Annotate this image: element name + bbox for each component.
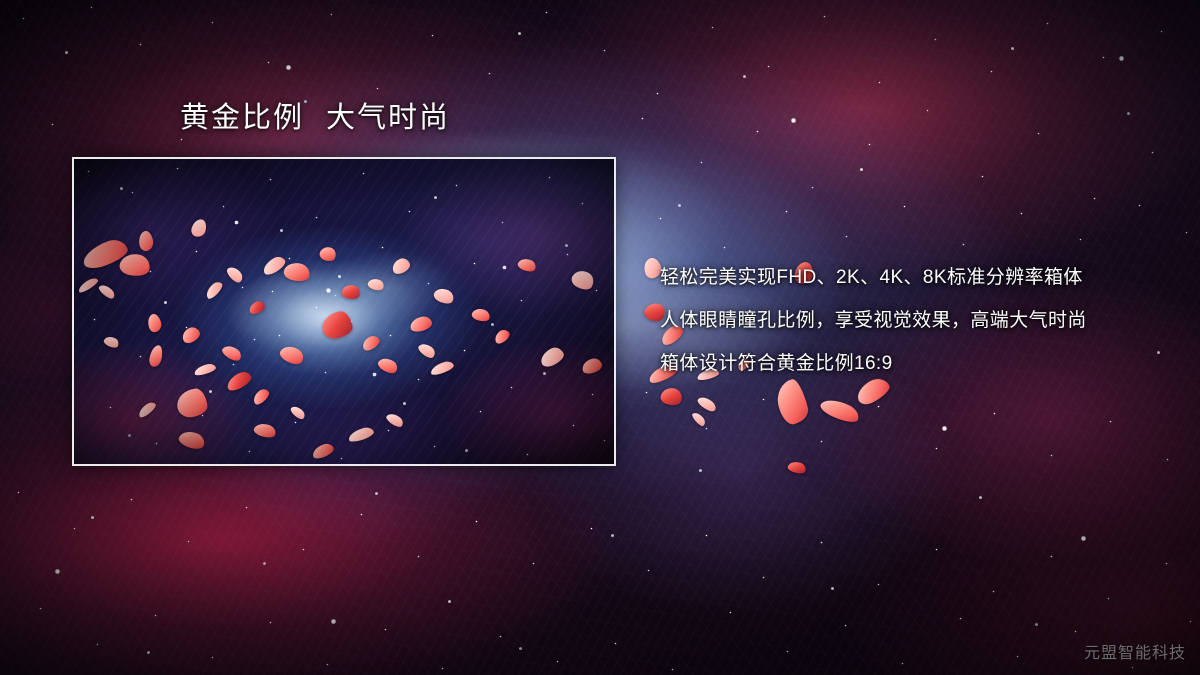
- image-panel-content: [74, 159, 614, 464]
- slide-title: 黄金比例大气时尚: [180, 101, 450, 136]
- image-panel: [72, 157, 616, 466]
- petal: [696, 394, 718, 414]
- petal: [787, 459, 808, 475]
- star-dots-medium: [0, 0, 1, 1]
- watermark: 元盟智能科技: [1084, 639, 1186, 663]
- body-line-1: 轻松完美实现FHD、2K、4K、8K标准分辨率箱体: [660, 256, 1087, 299]
- panel-vignette: [74, 159, 614, 464]
- star-dots-small: [0, 0, 1, 1]
- petal: [691, 410, 707, 428]
- body-line-2: 人体眼睛瞳孔比例，享受视觉效果，高端大气时尚: [660, 299, 1087, 342]
- title-part-2: 大气时尚: [326, 102, 450, 134]
- petal: [659, 386, 683, 408]
- body-text-block: 轻松完美实现FHD、2K、4K、8K标准分辨率箱体 人体眼睛瞳孔比例，享受视觉效…: [660, 256, 1087, 385]
- petal: [818, 395, 861, 427]
- title-part-1: 黄金比例: [180, 102, 304, 134]
- body-line-3: 箱体设计符合黄金比例16:9: [660, 342, 1087, 385]
- star-dots-bright: [0, 0, 1, 1]
- slide-root: 黄金比例大气时尚: [0, 0, 1200, 675]
